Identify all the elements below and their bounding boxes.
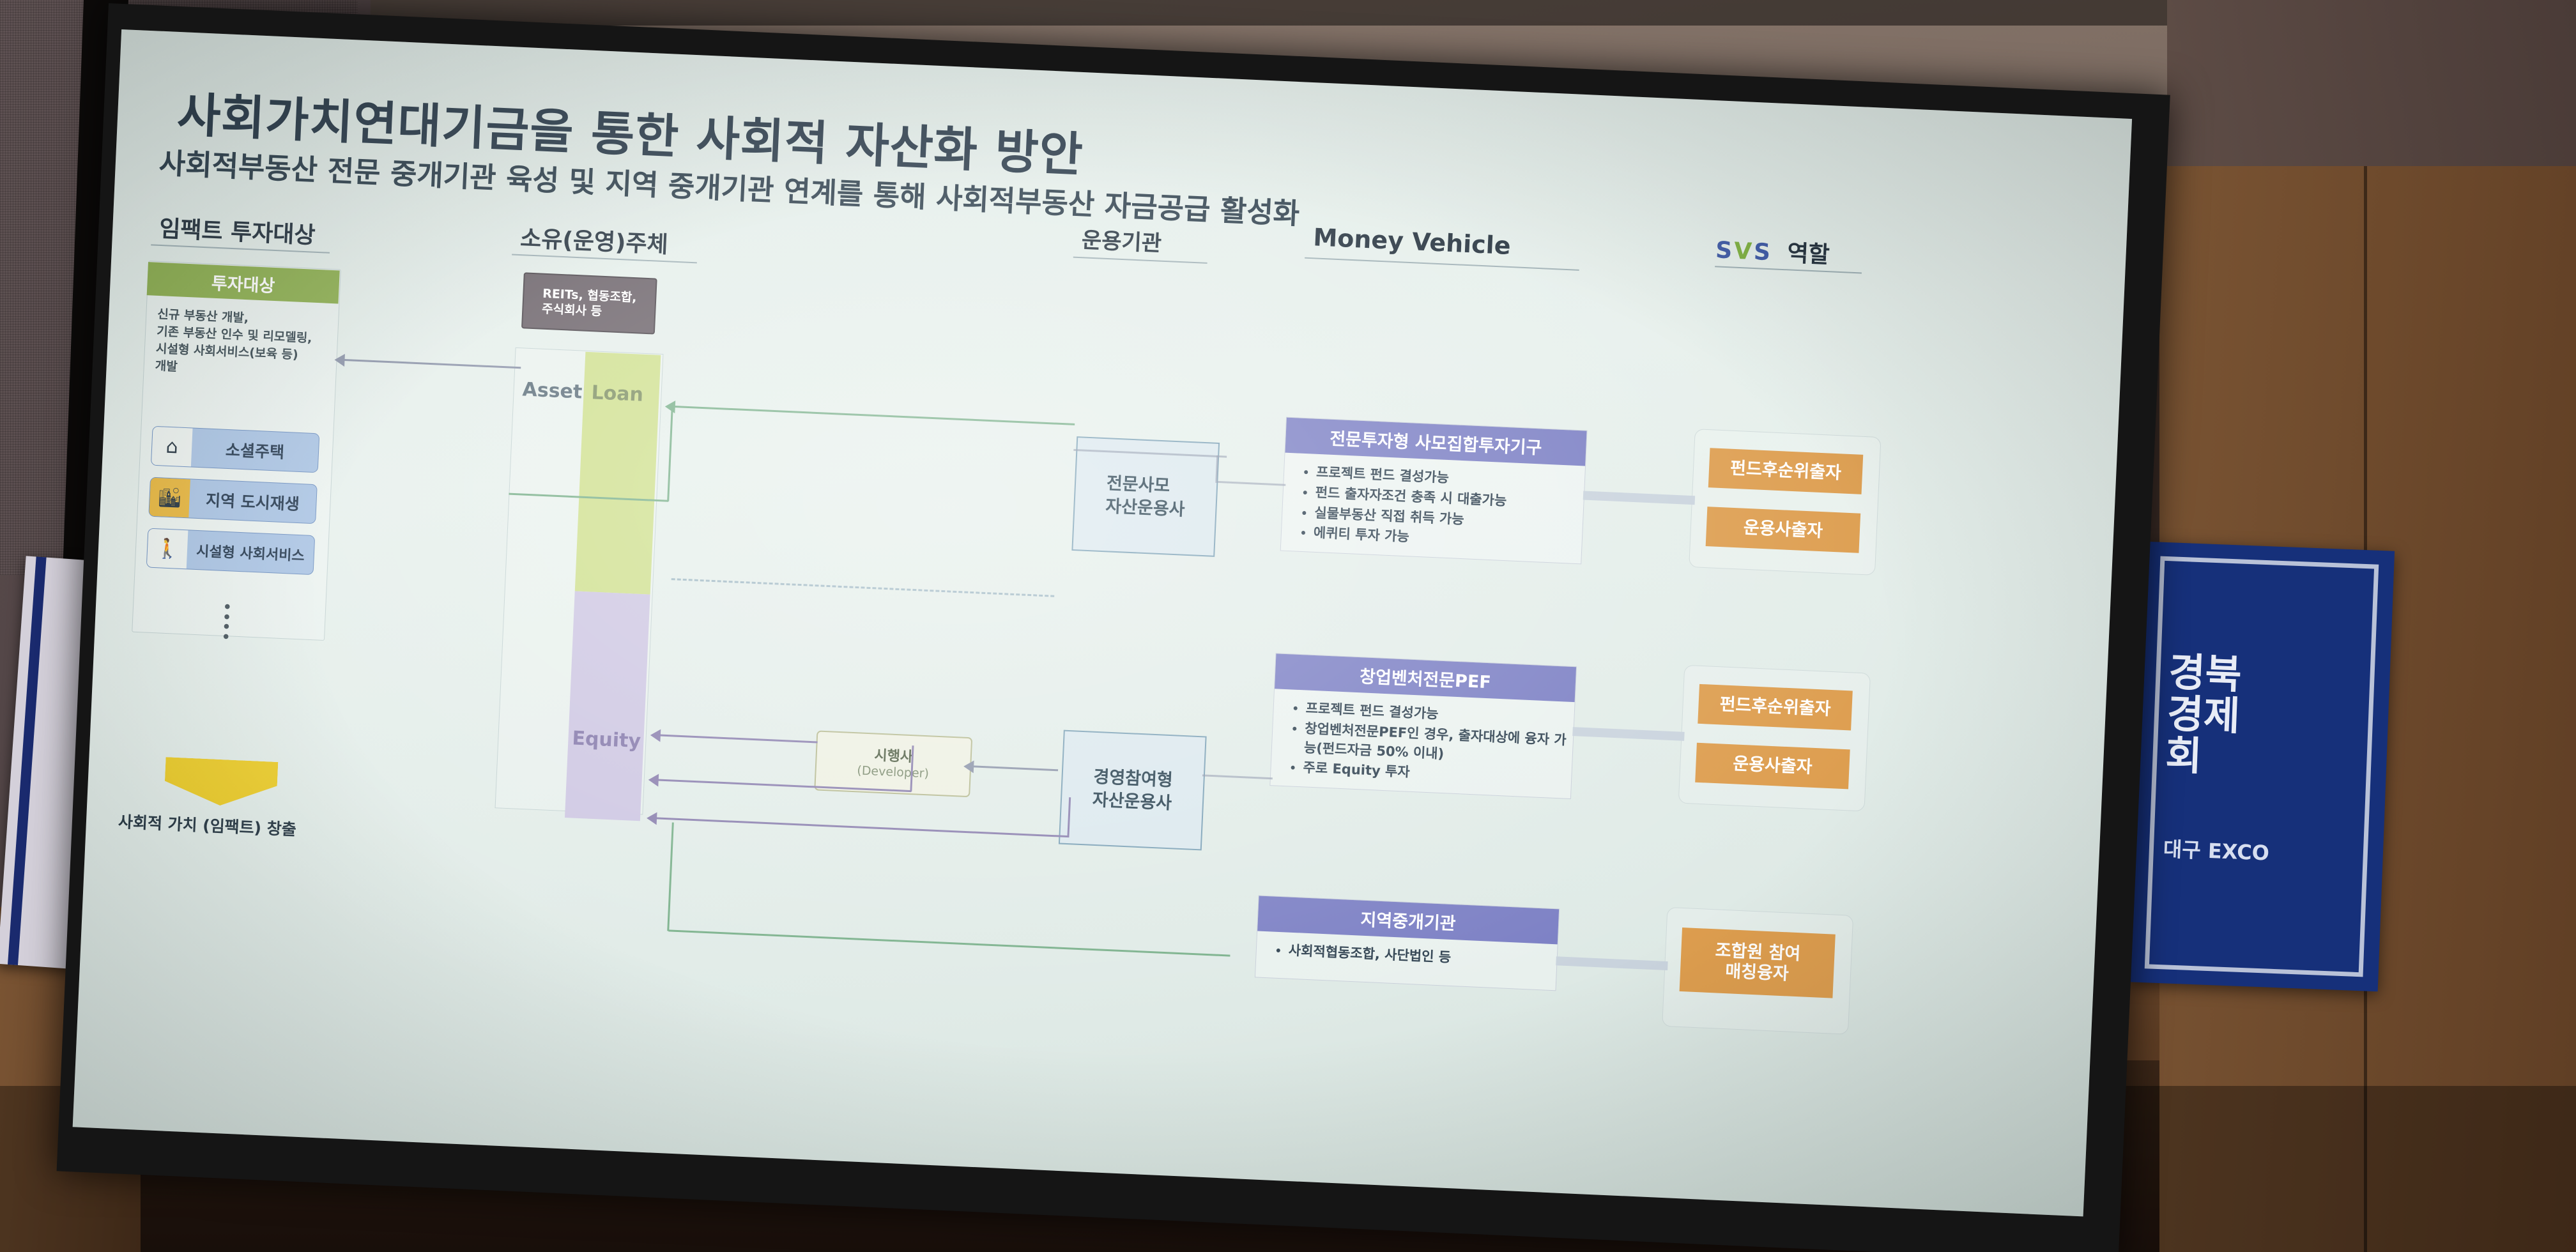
equity-label: Equity [572,727,641,752]
invest-item-label: 소셜주택 [191,436,318,464]
connector-operator1-to-loan [673,406,1075,425]
svs-logo-s2: S [1753,239,1771,266]
asset-label: Asset [522,378,583,403]
invest-items-ellipsis: • • • • [221,603,233,643]
connector-op2-mv2 [1202,774,1273,779]
invest-item-urban-regeneration[interactable]: 🏙 지역 도시재생 [148,477,317,524]
column-header-vehicle-rule [1305,257,1579,271]
impact-creation-label: 사회적 가치 (임팩트) 창출 [118,809,296,840]
vehicle-bullet: 사회적협동조합, 사단법인 등 [1288,942,1552,972]
banner-right-venue: 대구 EXCO [2163,833,2270,866]
column-header-role-rule [1715,266,1862,273]
connector-owner-to-invest [339,359,521,369]
svs-logo-icon: SVS [1715,237,1770,266]
role-button-manager-contribution[interactable]: 운용사출자 [1706,507,1861,553]
column-header-owner: 소유(운영)주체 [519,220,669,259]
house-icon: ⌂ [151,427,193,467]
vehicle-card-body: 프로젝트 펀드 결성가능 펀드 출자자조건 충족 시 대출가능 실물부동산 직접… [1281,453,1585,564]
connector-equity-developer [658,734,818,743]
role-card-3: 조합원 참여 매칭융자 [1662,907,1853,1035]
vehicle-card-body: 프로젝트 펀드 결성가능 창업벤처전문PEF인 경우, 출자대상에 융자 가능(… [1270,689,1574,798]
connector-arrow-equity-2 [648,774,659,787]
connector-mv1-role1 [1583,491,1695,505]
vehicle-card-local-intermediary: 지역중개기관 사회적협동조합, 사단법인 등 [1255,895,1560,991]
investment-card-body: 신규 부동산 개발, 기존 부동산 인수 및 리모델링, 시설형 사회서비스(보… [155,306,337,383]
column-header-role: SVS 역할 [1715,231,1830,270]
connector-arrow-left [334,353,345,367]
connector-arrow-equity-3 [647,812,657,825]
connector-arrow-equity-1 [650,729,661,742]
banner-right-line1: 경북 [2168,651,2242,695]
invest-item-label: 지역 도시재생 [189,487,316,515]
conference-room: 경북 경제 회 대구 EXCO 새로 내일 열 사회가치연대기금을 통한 사회적… [0,0,2576,1252]
connector-dashed [671,578,1055,597]
column-header-vehicle: Money Vehicle [1313,223,1512,260]
connector-arrow-loan [664,400,675,413]
banner-right-line3: 회 [2165,734,2239,778]
developer-label-en: (Developer) [857,763,929,782]
connector-mv3-role3 [1556,956,1667,970]
connector-vert-green [667,406,673,501]
connector-equity-3 [654,817,1069,837]
people-icon: 🚶 [147,529,188,569]
role-card-2: 펀드후순위출자 운용사출자 [1678,665,1871,812]
column-header-owner-label: 소유(운영)주체 [519,225,668,258]
svs-logo-v: V [1733,238,1752,265]
slide-content: 사회가치연대기금을 통한 사회적 자산화 방안 사회적부동산 전문 중개기관 육… [98,50,2110,1190]
column-header-vehicle-label: Money Vehicle [1313,223,1512,260]
banner-right-text: 경북 경제 회 [2165,651,2242,779]
connector-mv2-role2 [1572,727,1684,741]
role-card-1: 펀드후순위출자 운용사출자 [1689,429,1881,576]
owner-entity-box: REITs, 협동조합, 주식회사 등 [521,272,657,334]
connector-local-vert [667,823,674,931]
banner-right: 경북 경제 회 대구 EXCO [2129,542,2395,991]
city-icon: 🏙 [149,478,190,518]
connector-developer-op2 [969,765,1058,771]
role-button-fund-subordinated[interactable]: 펀드후순위출자 [1698,684,1853,731]
role-button-manager-contribution[interactable]: 운용사출자 [1695,743,1850,790]
down-arrow-icon [164,757,278,808]
loan-label: Loan [591,381,644,406]
developer-label-kr: 시행사 [874,747,914,766]
connector-local-intermediary [668,929,1230,956]
vehicle-card-venture-pef: 창업벤처전문PEF 프로젝트 펀드 결성가능 창업벤처전문PEF인 경우, 출자… [1269,653,1577,799]
column-header-operator-label: 운용기관 [1081,227,1162,257]
connector-op1-mv1 [1215,481,1285,486]
column-header-role-label: 역할 [1787,240,1830,268]
column-header-operator: 운용기관 [1081,222,1162,257]
connector-arrow-developer [963,760,974,774]
projection-screen: 사회가치연대기금을 통한 사회적 자산화 방안 사회적부동산 전문 중개기관 육… [57,3,2170,1252]
column-header-operator-rule [1073,257,1207,264]
banner-right-line2: 경제 [2166,692,2241,737]
operator-box-management-participation-manager: 경영참여형 자산운용사 [1059,730,1207,851]
role-button-fund-subordinated[interactable]: 펀드후순위출자 [1708,448,1864,494]
role-button-member-matching-loan[interactable]: 조합원 참여 매칭융자 [1680,928,1836,998]
equity-segment [565,591,650,821]
svs-logo-s1: S [1715,237,1733,264]
vehicle-card-private-fund: 전문투자형 사모집합투자기구 프로젝트 펀드 결성가능 펀드 출자자조건 충족 … [1280,417,1588,565]
invest-item-social-service[interactable]: 🚶 시설형 사회서비스 [146,528,315,576]
invest-item-social-housing[interactable]: ⌂ 소셜주택 [151,426,319,473]
invest-item-label: 시설형 사회서비스 [187,539,314,565]
column-header-impact: 임팩트 투자대상 [158,210,316,250]
column-header-impact-label: 임팩트 투자대상 [158,216,316,249]
